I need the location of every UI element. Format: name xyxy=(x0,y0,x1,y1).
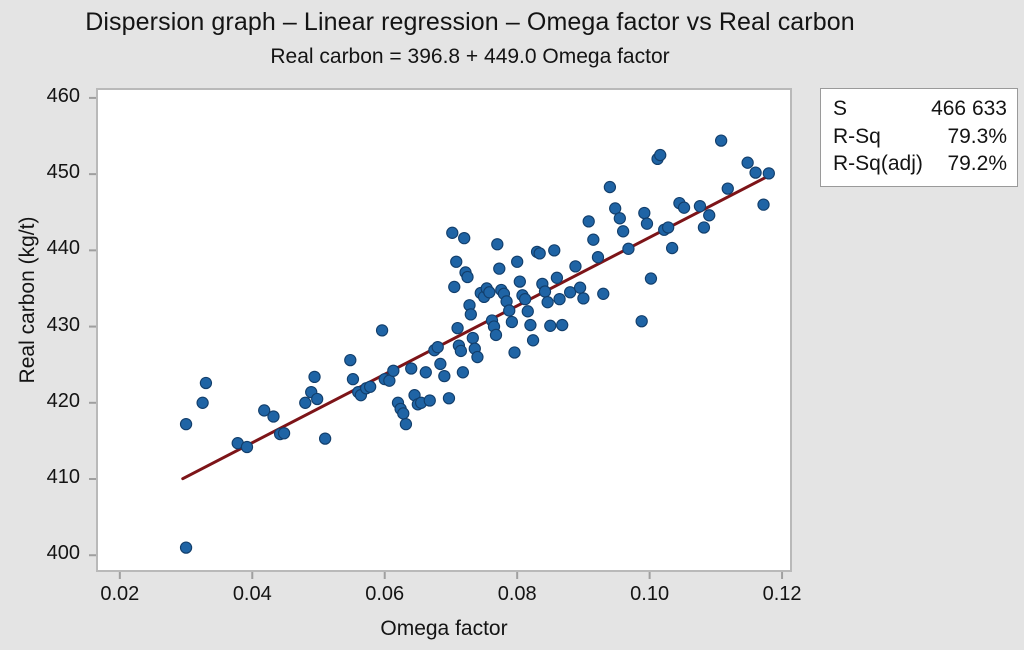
x-axis-title: Omega factor xyxy=(96,617,792,641)
scatter-point xyxy=(750,167,761,178)
scatter-point xyxy=(545,320,556,331)
scatter-point xyxy=(716,135,727,146)
scatter-point xyxy=(490,329,501,340)
scatter-point xyxy=(406,363,417,374)
scatter-point xyxy=(268,411,279,422)
scatter-point xyxy=(557,319,568,330)
scatter-point xyxy=(376,325,387,336)
scatter-point xyxy=(583,216,594,227)
x-tick-label: 0.06 xyxy=(350,583,420,606)
scatter-point xyxy=(309,371,320,382)
scatter-point xyxy=(492,239,503,250)
scatter-point xyxy=(758,199,769,210)
scatter-point xyxy=(435,358,446,369)
scatter-point xyxy=(467,332,478,343)
scatter-point xyxy=(494,263,505,274)
scatter-point xyxy=(742,157,753,168)
scatter-point xyxy=(345,355,356,366)
scatter-point xyxy=(447,227,458,238)
scatter-point xyxy=(484,287,495,298)
scatter-point xyxy=(698,222,709,233)
statistics-row: S466 633 xyxy=(833,95,1007,123)
scatter-point xyxy=(655,149,666,160)
scatter-point xyxy=(636,316,647,327)
scatter-point xyxy=(439,371,450,382)
scatter-point xyxy=(472,351,483,362)
statistics-row: R-Sq(adj)79.2% xyxy=(833,150,1007,178)
statistic-value: 79.2% xyxy=(947,150,1007,178)
scatter-point xyxy=(574,282,585,293)
scatter-point xyxy=(763,168,774,179)
statistic-value: 79.3% xyxy=(947,123,1007,151)
x-tick-label: 0.04 xyxy=(217,583,287,606)
scatter-point xyxy=(639,207,650,218)
x-tick-label: 0.12 xyxy=(747,583,817,606)
statistics-row: R-Sq79.3% xyxy=(833,123,1007,151)
regression-line xyxy=(183,174,772,479)
scatter-point xyxy=(398,408,409,419)
scatter-point xyxy=(312,393,323,404)
statistics-box: S466 633R-Sq79.3%R-Sq(adj)79.2% xyxy=(820,88,1018,187)
scatter-point xyxy=(542,297,553,308)
scatter-point xyxy=(388,365,399,376)
scatter-point xyxy=(451,256,462,267)
scatter-series xyxy=(180,135,774,553)
scatter-point xyxy=(570,261,581,272)
scatter-point xyxy=(598,288,609,299)
scatter-point xyxy=(400,419,411,430)
scatter-point xyxy=(512,256,523,267)
scatter-point xyxy=(578,293,589,304)
scatter-point xyxy=(509,347,520,358)
y-tick-label: 400 xyxy=(22,542,80,565)
scatter-point xyxy=(534,248,545,259)
scatter-point xyxy=(641,218,652,229)
scatter-point xyxy=(588,234,599,245)
scatter-point xyxy=(722,183,733,194)
x-tick-label: 0.08 xyxy=(482,583,552,606)
scatter-point xyxy=(457,367,468,378)
scatter-point xyxy=(424,395,435,406)
scatter-point xyxy=(449,281,460,292)
scatter-point xyxy=(200,377,211,388)
y-tick-label: 410 xyxy=(22,466,80,489)
scatter-point xyxy=(678,202,689,213)
scatter-point xyxy=(459,233,470,244)
scatter-point xyxy=(462,271,473,282)
scatter-point xyxy=(465,309,476,320)
statistic-value: 466 633 xyxy=(931,95,1007,123)
scatter-point xyxy=(667,242,678,253)
x-tick-label: 0.10 xyxy=(615,583,685,606)
scatter-point xyxy=(522,306,533,317)
scatter-point xyxy=(347,374,358,385)
scatter-point xyxy=(623,243,634,254)
scatter-point xyxy=(520,294,531,305)
scatter-point xyxy=(704,210,715,221)
statistic-label: R-Sq xyxy=(833,123,881,151)
scatter-point xyxy=(180,542,191,553)
statistic-label: R-Sq(adj) xyxy=(833,150,923,178)
scatter-point xyxy=(539,286,550,297)
x-tick-label: 0.02 xyxy=(85,583,155,606)
scatter-point xyxy=(694,201,705,212)
scatter-point xyxy=(551,272,562,283)
scatter-point xyxy=(549,245,560,256)
scatter-point xyxy=(592,252,603,263)
scatter-point xyxy=(197,397,208,408)
scatter-point xyxy=(618,226,629,237)
scatter-point xyxy=(455,345,466,356)
scatter-point xyxy=(432,342,443,353)
scatter-point xyxy=(300,397,311,408)
scatter-point xyxy=(527,335,538,346)
chart-root: Dispersion graph – Linear regression – O… xyxy=(0,0,1024,650)
scatter-point xyxy=(554,294,565,305)
chart-title: Dispersion graph – Linear regression – O… xyxy=(0,8,940,37)
y-axis-title: Real carbon (kg/t) xyxy=(16,180,40,420)
scatter-point xyxy=(420,367,431,378)
scatter-point xyxy=(320,433,331,444)
scatter-point xyxy=(663,222,674,233)
scatter-point xyxy=(514,276,525,287)
scatter-point xyxy=(365,381,376,392)
scatter-point xyxy=(452,322,463,333)
scatter-point xyxy=(604,181,615,192)
scatter-point xyxy=(506,316,517,327)
scatter-point xyxy=(614,213,625,224)
scatter-point xyxy=(645,273,656,284)
scatter-point xyxy=(443,393,454,404)
scatter-point xyxy=(278,428,289,439)
scatter-point xyxy=(241,441,252,452)
y-tick-label: 460 xyxy=(22,85,80,108)
statistic-label: S xyxy=(833,95,847,123)
scatter-point xyxy=(504,305,515,316)
scatter-point xyxy=(525,319,536,330)
chart-subtitle: Real carbon = 396.8 + 449.0 Omega factor xyxy=(0,45,940,69)
scatter-point xyxy=(180,419,191,430)
plot-canvas xyxy=(96,88,792,572)
